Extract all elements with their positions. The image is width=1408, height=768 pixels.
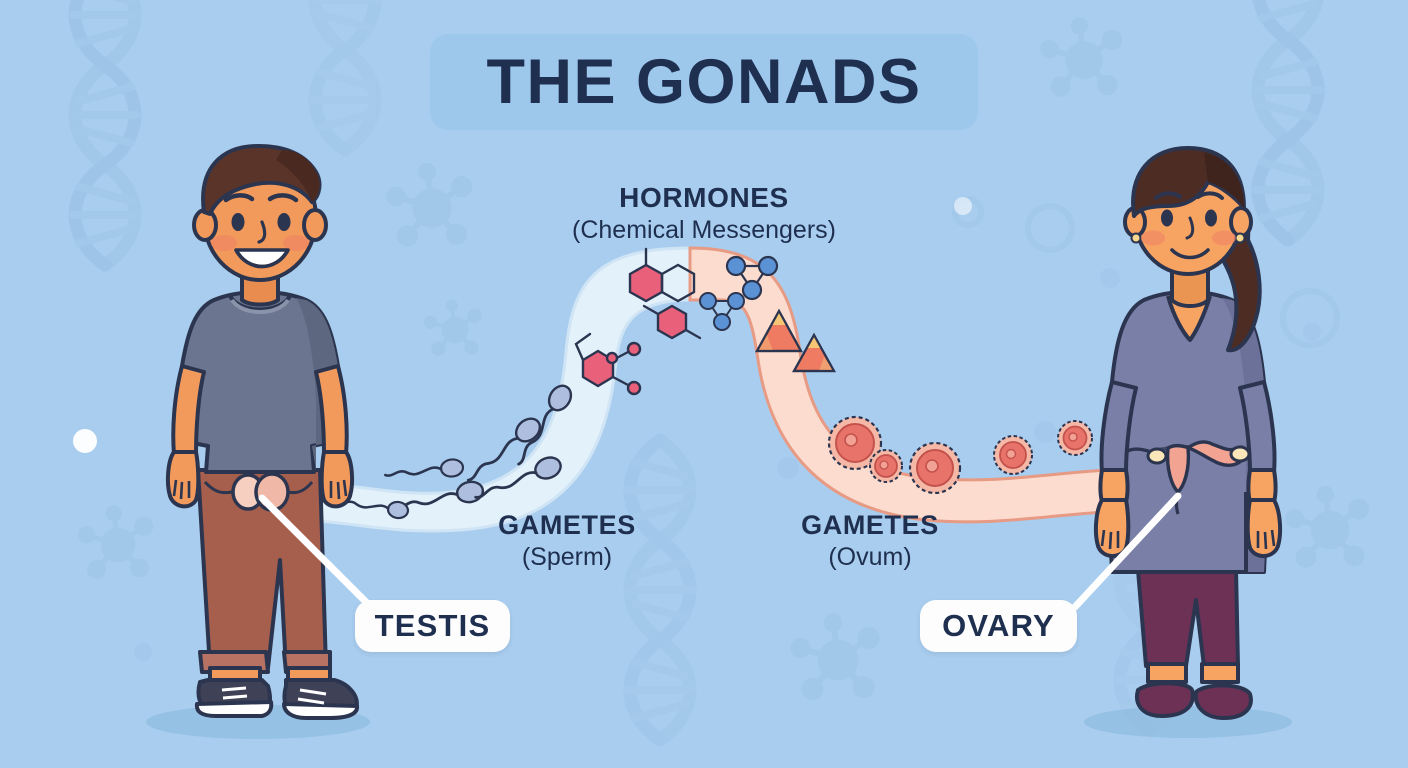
title-badge: THE GONADS (430, 34, 978, 130)
gametes-sperm-label: GAMETES (Sperm) (427, 511, 707, 571)
gametes-ovum-label: GAMETES (Ovum) (730, 511, 1010, 571)
hormones-label: HORMONES (Chemical Messengers) (504, 183, 904, 245)
page-title: THE GONADS (486, 51, 921, 114)
ovary-callout-label: OVARY (920, 600, 1077, 652)
gametes-ovum-label-sub: (Ovum) (730, 543, 1010, 572)
ovary-leader-line (1074, 496, 1178, 608)
testis-leader-line (262, 498, 372, 608)
gametes-ovum-label-main: GAMETES (730, 511, 1010, 541)
infographic-canvas: THE GONADS HORMONES (Chemical Messengers… (0, 0, 1408, 768)
gametes-sperm-label-main: GAMETES (427, 511, 707, 541)
gametes-sperm-label-sub: (Sperm) (427, 543, 707, 572)
hormones-label-sub: (Chemical Messengers) (504, 216, 904, 245)
hormones-label-main: HORMONES (504, 183, 904, 214)
testis-callout-label: TESTIS (355, 600, 510, 652)
